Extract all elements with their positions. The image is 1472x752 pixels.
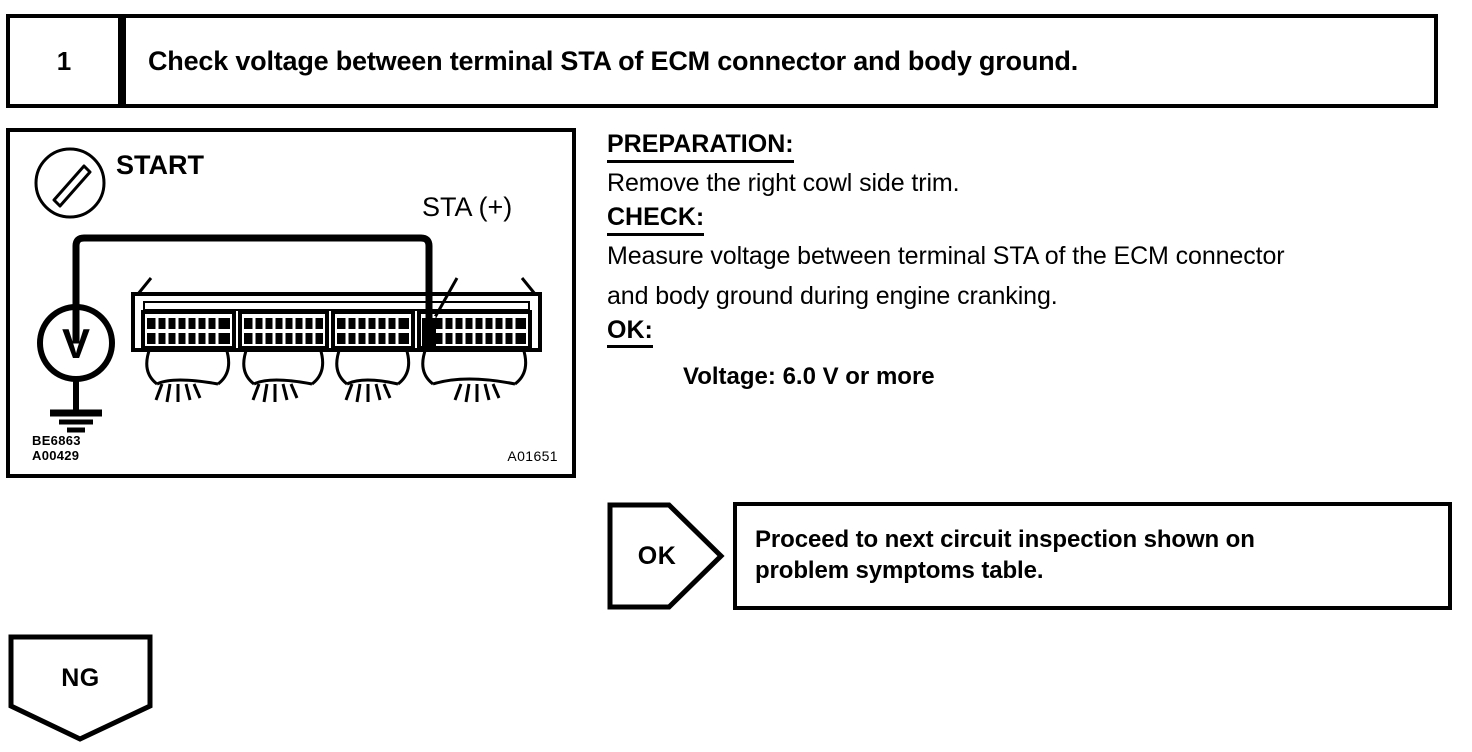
ok-result-text: Proceed to next circuit inspection shown… xyxy=(755,525,1255,586)
figure-code-right: A01651 xyxy=(507,448,558,464)
figure-code-left: BE6863 A00429 xyxy=(32,434,81,464)
ok-arrow-label: OK xyxy=(607,502,707,610)
preparation-text: Remove the right cowl side trim. xyxy=(607,163,1452,203)
start-label: START xyxy=(116,150,204,180)
ground-symbol xyxy=(50,379,102,430)
figure-code-left-line2: A00429 xyxy=(32,449,81,464)
step-title-cell: Check voltage between terminal STA of EC… xyxy=(122,14,1438,108)
step-number-cell: 1 xyxy=(6,14,122,108)
ng-result-banner: NG xyxy=(8,634,153,742)
check-text-line1: Measure voltage between terminal STA of … xyxy=(607,236,1452,276)
ok-result-line2: problem symptoms table. xyxy=(755,557,1043,584)
sta-terminal-label: STA (+) xyxy=(422,192,512,222)
svg-text:V: V xyxy=(62,320,90,367)
connector-block-1 xyxy=(143,312,234,402)
step-title: Check voltage between terminal STA of EC… xyxy=(148,46,1078,77)
preparation-heading: PREPARATION: xyxy=(607,130,794,163)
ok-result-text-box: Proceed to next circuit inspection shown… xyxy=(733,502,1452,610)
step-header-row: 1 Check voltage between terminal STA of … xyxy=(6,14,1438,108)
check-heading: CHECK: xyxy=(607,203,704,236)
instructions-column: PREPARATION: Remove the right cowl side … xyxy=(607,130,1452,397)
ng-label: NG xyxy=(8,634,153,722)
connector-block-3 xyxy=(333,312,413,402)
connector-block-2 xyxy=(240,312,327,402)
ignition-switch-icon xyxy=(36,149,104,217)
ok-heading: OK: xyxy=(607,316,653,349)
wiring-diagram-graphic: V xyxy=(10,132,572,474)
check-text-line2: and body ground during engine cranking. xyxy=(607,276,1452,316)
wiring-diagram-panel: V xyxy=(6,128,576,478)
sta-probe-tip xyxy=(422,318,436,346)
figure-code-left-line1: BE6863 xyxy=(32,434,81,449)
step-number: 1 xyxy=(57,48,71,74)
ok-result-row: OK Proceed to next circuit inspection sh… xyxy=(607,502,1452,610)
ok-result-line1: Proceed to next circuit inspection shown… xyxy=(755,526,1255,553)
ok-specification: Voltage: 6.0 V or more xyxy=(607,358,1452,396)
